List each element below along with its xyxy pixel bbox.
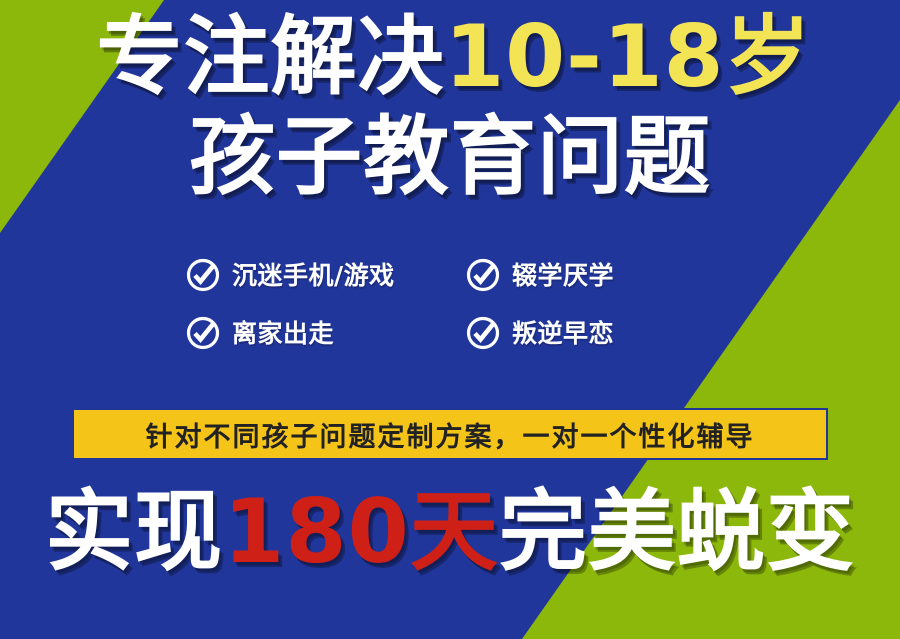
check-circle-icon bbox=[466, 316, 500, 350]
problem-checklist: 沉迷手机/游戏 辍学厌学 bbox=[186, 258, 706, 374]
slogan-part-3: 完美蜕变 bbox=[499, 480, 855, 583]
headline-line-1: 专注解决10-18岁 bbox=[8, 14, 900, 100]
headline-line1-part2: 10-18岁 bbox=[444, 7, 811, 107]
checklist-item-phone-addiction: 沉迷手机/游戏 bbox=[186, 258, 466, 292]
headline-line2-part1: 孩子教育问题 bbox=[189, 107, 711, 207]
offer-ribbon-text: 针对不同孩子问题定制方案，一对一个性化辅导 bbox=[146, 415, 755, 454]
check-circle-icon bbox=[466, 258, 500, 292]
slogan-part-2: 180天 bbox=[223, 480, 499, 583]
promo-poster: 专注解决10-18岁 孩子教育问题 沉迷手机/游戏 bbox=[0, 0, 900, 639]
offer-ribbon: 针对不同孩子问题定制方案，一对一个性化辅导 bbox=[72, 408, 828, 460]
checklist-item-label: 辍学厌学 bbox=[512, 263, 614, 288]
checklist-item-label: 叛逆早恋 bbox=[512, 321, 614, 346]
headline-line1-part1: 专注解决 bbox=[96, 7, 444, 107]
checklist-row: 沉迷手机/游戏 辍学厌学 bbox=[186, 258, 706, 292]
slogan-part-1: 实现 bbox=[45, 480, 223, 583]
checklist-item-runaway: 离家出走 bbox=[186, 316, 466, 350]
bottom-slogan: 实现180天完美蜕变 bbox=[0, 488, 900, 576]
checklist-item-label: 离家出走 bbox=[232, 321, 334, 346]
checklist-row: 离家出走 叛逆早恋 bbox=[186, 316, 706, 350]
checklist-item-rebellion: 叛逆早恋 bbox=[466, 316, 696, 350]
headline-line-2: 孩子教育问题 bbox=[0, 114, 900, 200]
check-circle-icon bbox=[186, 316, 220, 350]
checklist-item-label: 沉迷手机/游戏 bbox=[232, 263, 395, 288]
check-circle-icon bbox=[186, 258, 220, 292]
checklist-item-dropout: 辍学厌学 bbox=[466, 258, 696, 292]
headline-block: 专注解决10-18岁 孩子教育问题 bbox=[0, 14, 900, 200]
